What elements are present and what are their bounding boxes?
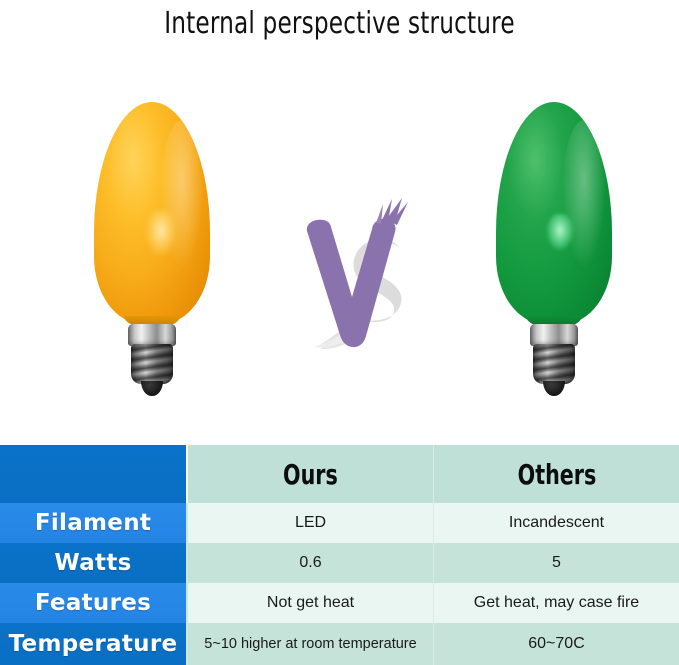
table-cell-others-features: Get heat, may case fire — [434, 583, 679, 623]
table-cell-ours-filament: LED — [188, 503, 434, 543]
versus-mark — [296, 196, 416, 376]
comparison-table: Ours Others Filament LED Incandescent Wa… — [0, 445, 679, 665]
orange-led-bulb-image — [88, 102, 216, 402]
base-threads-icon — [131, 344, 173, 384]
table-cell-ours-features: Not get heat — [188, 583, 434, 623]
table-row: Features Not get heat Get heat, may case… — [0, 583, 679, 623]
table-row-label-filament: Filament — [0, 503, 188, 543]
table-row: Temperature 5~10 higher at room temperat… — [0, 623, 679, 665]
bulb-glass-orange — [94, 102, 210, 324]
base-contact-tip-icon — [543, 381, 565, 396]
table-header-blank — [0, 445, 188, 503]
table-header-row: Ours Others — [0, 445, 679, 503]
table-cell-ours-watts: 0.6 — [188, 543, 434, 583]
table-header-others: Others — [434, 445, 679, 503]
table-cell-ours-temperature: 5~10 higher at room temperature — [188, 623, 434, 665]
table-header-others-label: Others — [517, 458, 596, 491]
table-row-label-temperature: Temperature — [0, 623, 188, 665]
table-row: Watts 0.6 5 — [0, 543, 679, 583]
bulb-screw-base-left — [126, 324, 178, 396]
table-cell-others-filament: Incandescent — [434, 503, 679, 543]
table-row-label-watts: Watts — [0, 543, 188, 583]
base-collar-icon — [530, 324, 578, 346]
base-contact-tip-icon — [141, 381, 163, 396]
page-title: Internal perspective structure — [48, 0, 632, 46]
table-header-ours-label: Ours — [283, 458, 338, 491]
base-collar-icon — [128, 324, 176, 346]
versus-svg — [296, 196, 416, 376]
table-header-ours: Ours — [188, 445, 434, 503]
table-row: Filament LED Incandescent — [0, 503, 679, 543]
bulb-glass-green — [496, 102, 612, 324]
table-cell-others-watts: 5 — [434, 543, 679, 583]
product-comparison-infographic: Internal perspective structure — [0, 0, 679, 665]
table-row-label-features: Features — [0, 583, 188, 623]
base-threads-icon — [533, 344, 575, 384]
green-incandescent-bulb-image — [490, 102, 618, 402]
bulb-comparison-illustration — [0, 46, 679, 445]
table-cell-others-temperature: 60~70C — [434, 623, 679, 665]
bulb-screw-base-right — [528, 324, 580, 396]
